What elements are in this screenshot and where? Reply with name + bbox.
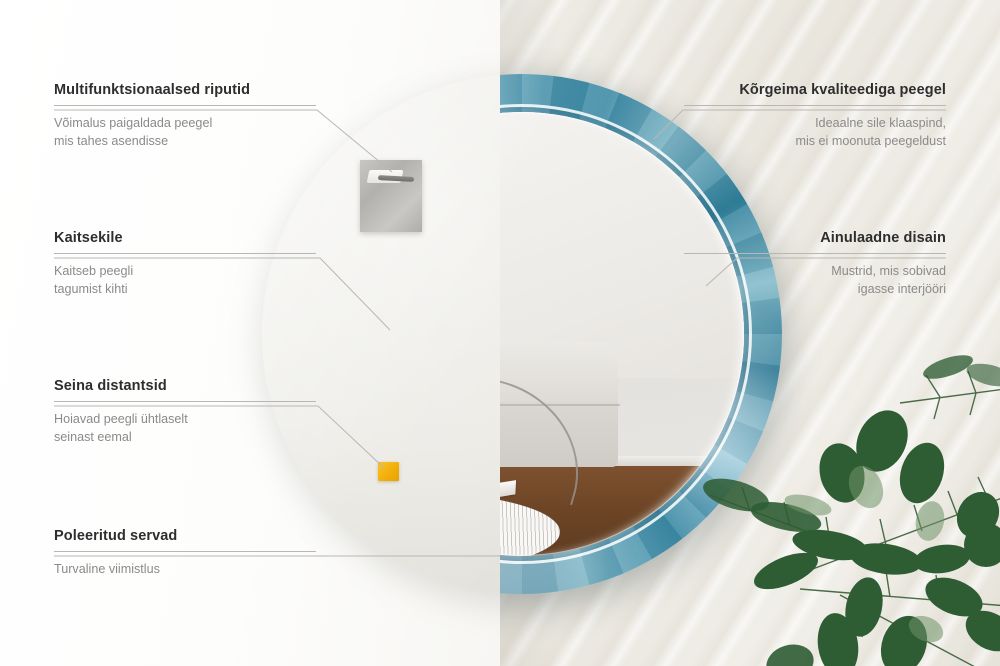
callout-description: Ideaalne sile klaaspind, mis ei moonuta … bbox=[684, 115, 946, 151]
callout-multifunktsionaalsed-riputid: Multifunktsionaalsed riputid Võimalus pa… bbox=[54, 82, 316, 151]
mounting-hanger-hardware bbox=[360, 160, 422, 232]
callout-title: Kõrgeima kvaliteediga peegel bbox=[684, 82, 946, 98]
callout-description: Turvaline viimistlus bbox=[54, 561, 316, 579]
callout-rule bbox=[684, 253, 946, 254]
foliage-branch-decoration bbox=[690, 345, 1000, 666]
callout-kaitsekile: Kaitsekile Kaitseb peegli tagumist kihti bbox=[54, 230, 316, 299]
callout-seina-distantsid: Seina distantsid Hoiavad peegli ühtlasel… bbox=[54, 378, 316, 447]
callout-rule bbox=[54, 401, 316, 402]
callout-description: Hoiavad peegli ühtlaselt seinast eemal bbox=[54, 411, 316, 447]
callout-description: Võimalus paigaldada peegel mis tahes ase… bbox=[54, 115, 316, 151]
wall-spacer-hardware bbox=[378, 462, 399, 481]
callout-korgeima-kvaliteediga-peegel: Kõrgeima kvaliteediga peegel Ideaalne si… bbox=[684, 82, 946, 151]
callout-description: Kaitseb peegli tagumist kihti bbox=[54, 263, 316, 299]
callout-title: Multifunktsionaalsed riputid bbox=[54, 82, 316, 98]
callout-rule bbox=[54, 253, 316, 254]
callout-description: Mustrid, mis sobivad igasse interjööri bbox=[684, 263, 946, 299]
infographic-canvas: Multifunktsionaalsed riputid Võimalus pa… bbox=[0, 0, 1000, 666]
callout-ainulaadne-disain: Ainulaadne disain Mustrid, mis sobivad i… bbox=[684, 230, 946, 299]
callout-poleeritud-servad: Poleeritud servad Turvaline viimistlus bbox=[54, 528, 316, 579]
callout-rule bbox=[54, 105, 316, 106]
callout-title: Ainulaadne disain bbox=[684, 230, 946, 246]
callout-title: Seina distantsid bbox=[54, 378, 316, 394]
callout-title: Kaitsekile bbox=[54, 230, 316, 246]
callout-rule bbox=[54, 551, 316, 552]
callout-title: Poleeritud servad bbox=[54, 528, 316, 544]
callout-rule bbox=[684, 105, 946, 106]
